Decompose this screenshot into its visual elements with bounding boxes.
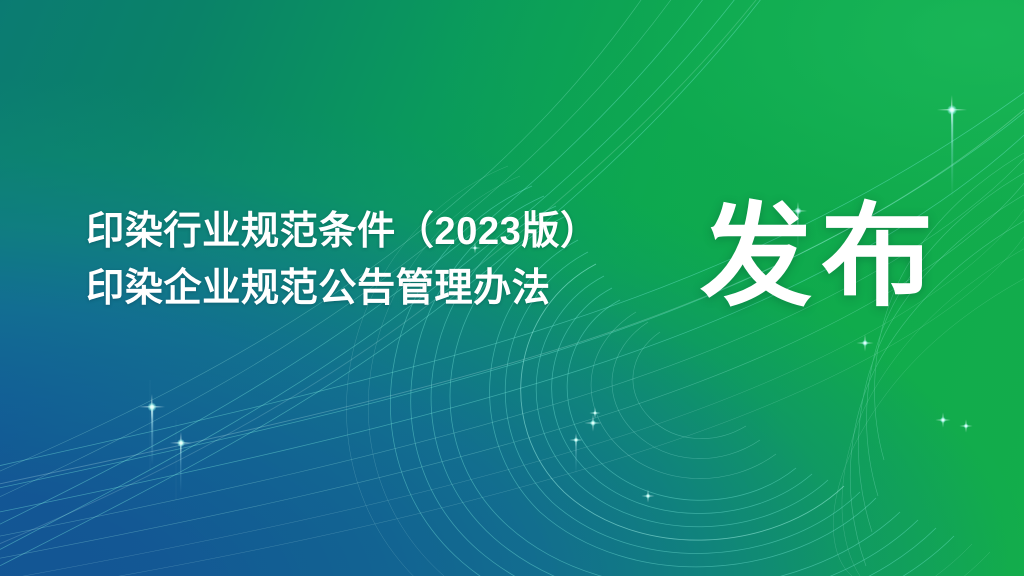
headline-line-1: 印染行业规范条件（2023版） [86, 203, 599, 260]
announcement-banner: 印染行业规范条件（2023版） 印染企业规范公告管理办法 发布 [0, 0, 1024, 576]
headline-line-2: 印染企业规范公告管理办法 [86, 260, 599, 317]
headline: 印染行业规范条件（2023版） 印染企业规范公告管理办法 [86, 203, 609, 317]
release-stamp-text: 发布 [700, 198, 942, 316]
